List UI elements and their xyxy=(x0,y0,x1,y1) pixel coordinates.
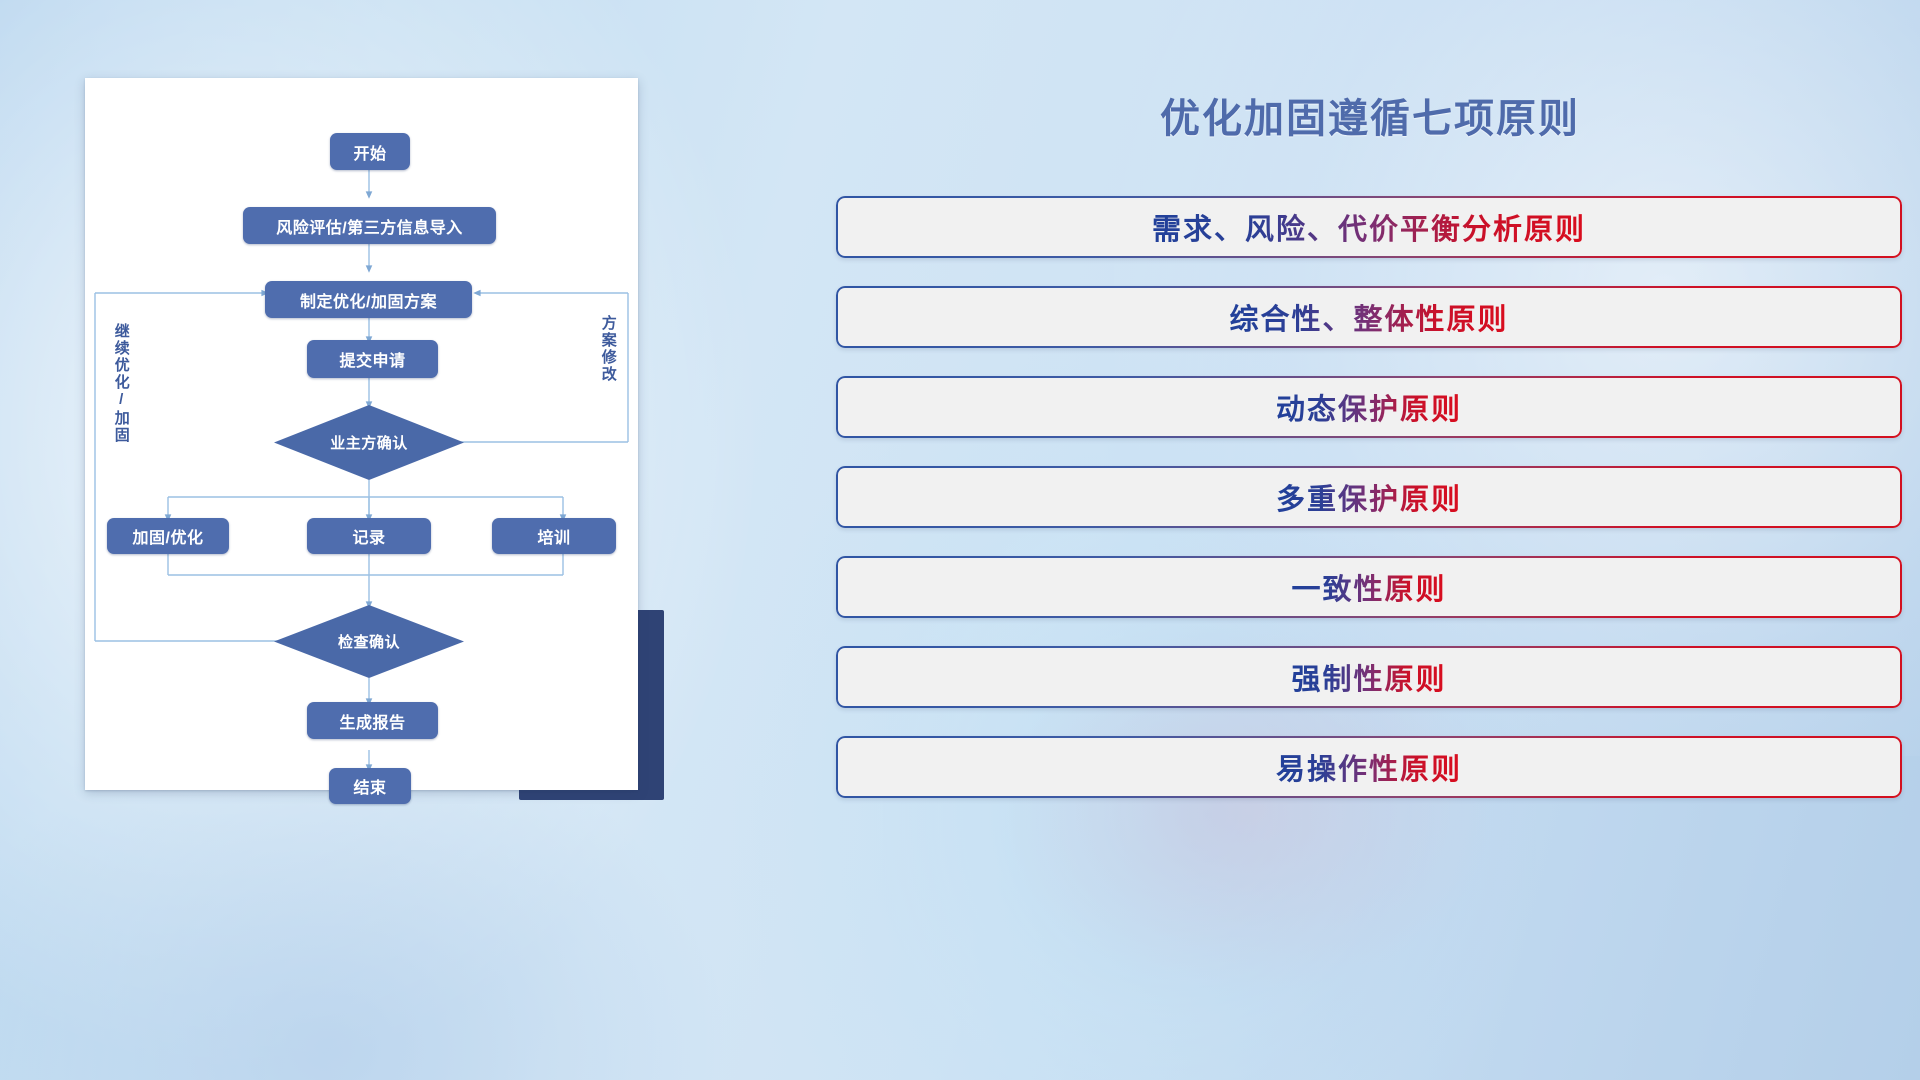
flowchart-stage: 继续优化/加固 方案修改 开始 风险评估/第三方信息导入 制定优化/加固方案 提… xyxy=(85,78,638,790)
principle-item-2[interactable]: 综合性、整体性原则 xyxy=(836,286,1902,348)
flow-node-owner-confirm[interactable]: 业主方确认 xyxy=(274,405,464,480)
principle-item-3[interactable]: 动态保护原则 xyxy=(836,376,1902,438)
principle-item-2-label: 综合性、整体性原则 xyxy=(1229,296,1508,338)
flow-node-end[interactable]: 结束 xyxy=(329,768,411,804)
flow-node-risk-assessment-label: 风险评估/第三方信息导入 xyxy=(276,214,462,238)
flow-node-end-label: 结束 xyxy=(353,774,386,798)
principle-item-1[interactable]: 需求、风险、代价平衡分析原则 xyxy=(836,196,1902,258)
principle-item-7[interactable]: 易操作性原则 xyxy=(836,736,1902,798)
edge-label-plan-revision: 方案修改 xyxy=(600,315,616,383)
principle-item-1-label: 需求、风险、代价平衡分析原则 xyxy=(1152,206,1586,248)
principle-item-6[interactable]: 强制性原则 xyxy=(836,646,1902,708)
flow-node-start-label: 开始 xyxy=(353,140,386,164)
flowchart-card: 继续优化/加固 方案修改 开始 风险评估/第三方信息导入 制定优化/加固方案 提… xyxy=(85,78,638,790)
principle-item-6-label: 强制性原则 xyxy=(1291,656,1446,698)
flow-node-reinforce-optimize-label: 加固/优化 xyxy=(133,524,204,548)
principle-item-5-label: 一致性原则 xyxy=(1291,566,1446,608)
flow-node-check-confirm[interactable]: 检查确认 xyxy=(274,605,464,678)
flow-node-submit-application[interactable]: 提交申请 xyxy=(307,340,438,378)
principle-item-4-label: 多重保护原则 xyxy=(1276,476,1462,518)
flow-node-check-confirm-label: 检查确认 xyxy=(274,605,464,678)
flow-node-training-label: 培训 xyxy=(537,524,570,548)
edge-label-continue-optimize: 继续优化/加固 xyxy=(113,323,129,444)
flowchart-panel: 继续优化/加固 方案修改 开始 风险评估/第三方信息导入 制定优化/加固方案 提… xyxy=(0,0,820,1080)
principle-item-5[interactable]: 一致性原则 xyxy=(836,556,1902,618)
principle-item-4[interactable]: 多重保护原则 xyxy=(836,466,1902,528)
page-title: 优化加固遵循七项原则 xyxy=(820,86,1920,144)
flow-node-plan-label: 制定优化/加固方案 xyxy=(300,288,437,312)
flow-node-plan[interactable]: 制定优化/加固方案 xyxy=(265,281,472,318)
principle-item-7-label: 易操作性原则 xyxy=(1276,746,1462,788)
flow-node-submit-application-label: 提交申请 xyxy=(339,347,405,371)
flow-node-generate-report-label: 生成报告 xyxy=(339,709,405,733)
flow-node-training[interactable]: 培训 xyxy=(492,518,616,554)
flow-node-risk-assessment[interactable]: 风险评估/第三方信息导入 xyxy=(243,207,496,244)
flow-node-record-label: 记录 xyxy=(352,524,385,548)
principles-panel: 优化加固遵循七项原则 需求、风险、代价平衡分析原则 综合性、整体性原则 动态保护… xyxy=(820,0,1920,1080)
flow-node-record[interactable]: 记录 xyxy=(307,518,431,554)
flow-node-start[interactable]: 开始 xyxy=(330,133,410,170)
flow-node-generate-report[interactable]: 生成报告 xyxy=(307,702,438,739)
principle-item-3-label: 动态保护原则 xyxy=(1276,386,1462,428)
principles-list: 需求、风险、代价平衡分析原则 综合性、整体性原则 动态保护原则 多重保护原则 一… xyxy=(836,196,1902,826)
flow-node-reinforce-optimize[interactable]: 加固/优化 xyxy=(107,518,229,554)
flow-node-owner-confirm-label: 业主方确认 xyxy=(274,405,464,480)
